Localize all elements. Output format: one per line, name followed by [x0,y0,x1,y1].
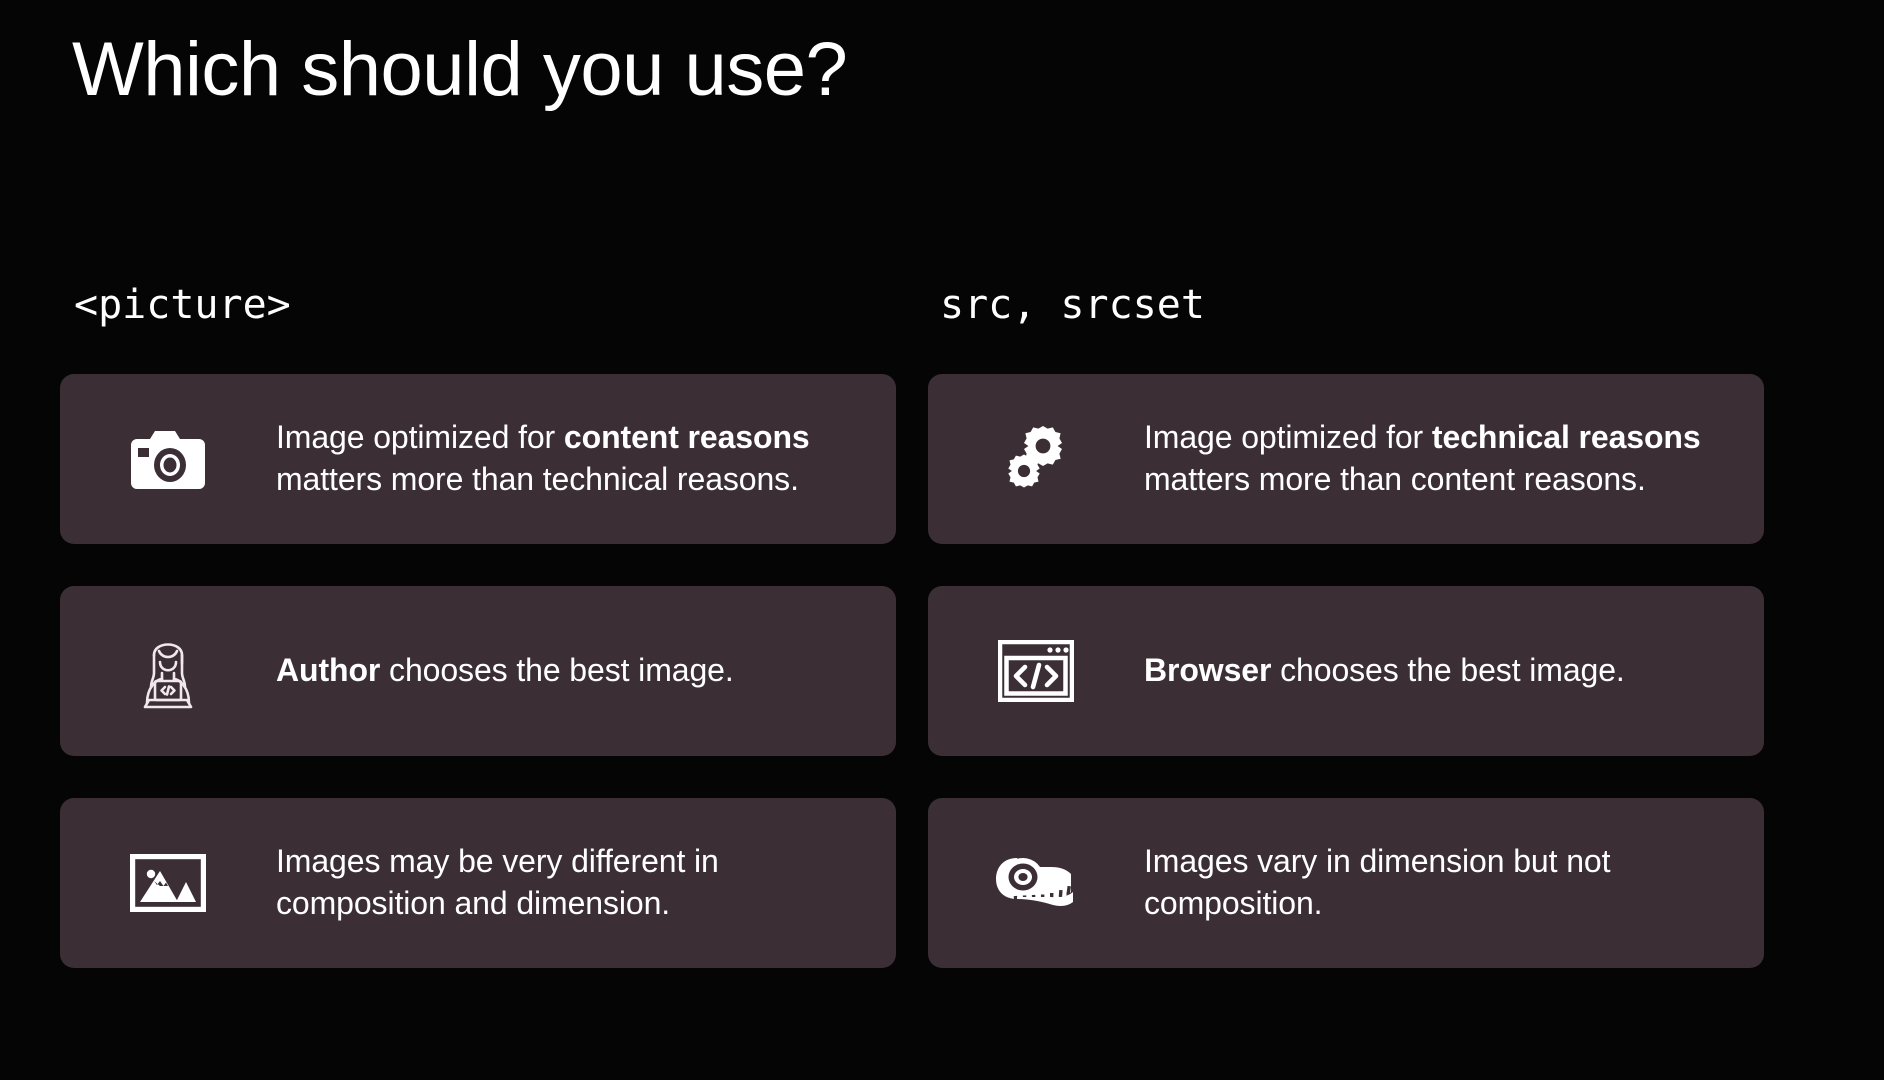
card-images-different-composition: Images may be very different in composit… [60,798,896,968]
card-srcset-technical-reasons: Image optimized for technical reasons ma… [928,374,1764,544]
card-text-emphasis: Browser [1144,652,1271,688]
card-picture-content-reasons: Image optimized for content reasons matt… [60,374,896,544]
slide-root: Which should you use? <picture> src, src… [0,0,1884,1080]
card-text: Images vary in dimension but not composi… [1144,841,1736,924]
card-text: Image optimized for technical reasons ma… [1144,417,1736,500]
column-heading-src-srcset: src, srcset [940,282,1205,328]
card-images-vary-dimension: Images vary in dimension but not composi… [928,798,1764,968]
card-author-chooses: Author chooses the best image. [60,586,896,756]
card-text: Browser chooses the best image. [1144,650,1736,692]
camera-icon [60,374,276,544]
card-browser-chooses: Browser chooses the best image. [928,586,1764,756]
card-text-emphasis: technical reasons [1432,419,1701,455]
browser-window-code-icon [928,586,1144,756]
card-text-emphasis: Author [276,652,380,688]
comparison-card-grid: Image optimized for content reasons matt… [60,374,1764,968]
page-title: Which should you use? [72,28,847,112]
author-developer-icon [60,586,276,756]
column-heading-picture: <picture> [74,282,291,328]
card-text-emphasis: content reasons [564,419,810,455]
gears-icon [928,374,1144,544]
card-text-tail: matters more than content reasons. [1144,461,1646,497]
card-text-lead: Image optimized for [276,419,564,455]
card-text: Author chooses the best image. [276,650,868,692]
card-text: Images may be very different in composit… [276,841,868,924]
card-text: Image optimized for content reasons matt… [276,417,868,500]
card-text-lead: Image optimized for [1144,419,1432,455]
card-text-lead: Images may be very different in composit… [276,843,719,921]
card-text-tail: matters more than technical reasons. [276,461,799,497]
picture-landscape-icon [60,798,276,968]
tape-measure-icon [928,798,1144,968]
card-text-tail: chooses the best image. [1271,652,1624,688]
card-text-tail: chooses the best image. [380,652,733,688]
card-text-lead: Images vary in dimension but not composi… [1144,843,1610,921]
